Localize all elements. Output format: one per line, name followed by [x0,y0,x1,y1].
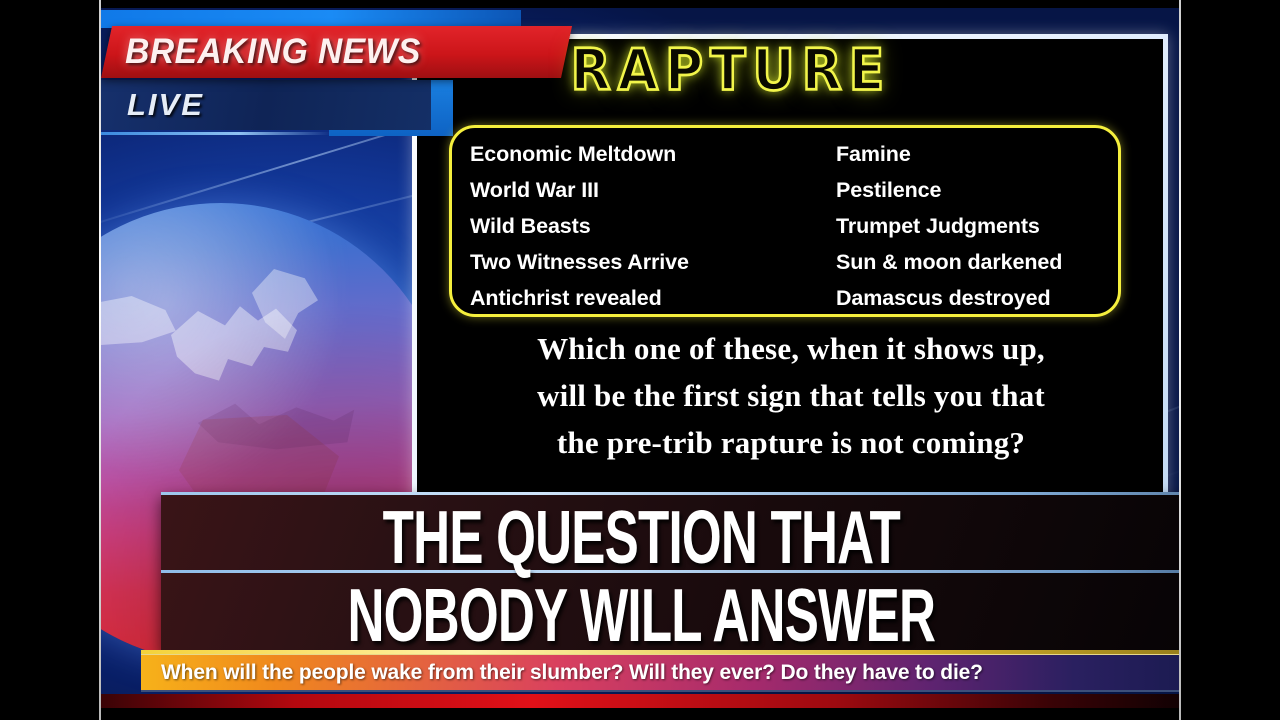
list-item: Damascus destroyed [814,280,1118,316]
question-line-1: Which one of these, when it shows up, [441,325,1141,372]
news-broadcast-graphic: BREAKING NEWS LIVE RAPTURE Economic Melt… [101,0,1179,720]
list-item: Two Witnesses Arrive [470,244,814,280]
topic-title-wrap: RAPTURE [451,40,1011,102]
bottom-black-strip [101,708,1179,720]
list-item: Economic Meltdown [470,136,814,172]
list-item: Sun & moon darkened [814,244,1118,280]
lower-third-bar [161,494,1179,654]
list-item: World War III [470,172,814,208]
ticker-bar: When will the people wake from their slu… [141,654,1179,692]
topic-title: RAPTURE [571,38,892,104]
signs-list-box: Economic Meltdown Famine World War III P… [449,125,1121,317]
bottom-red-strip [101,694,1179,708]
content-left-rule [99,0,101,720]
live-underline [101,132,331,135]
lower-third-rule-mid [161,570,1179,573]
list-item: Pestilence [814,172,1118,208]
list-item: Famine [814,136,1118,172]
list-item: Trumpet Judgments [814,208,1118,244]
signs-list-grid: Economic Meltdown Famine World War III P… [470,136,1118,316]
question-line-3: the pre-trib rapture is not coming? [441,419,1141,466]
question-text: Which one of these, when it shows up, wi… [441,325,1141,466]
screenshot-canvas: BREAKING NEWS LIVE RAPTURE Economic Melt… [0,0,1280,720]
content-right-rule [1179,0,1181,720]
lower-third-rule-top [161,492,1179,495]
ticker-text: When will the people wake from their slu… [161,661,983,685]
live-label: LIVE [127,87,204,123]
question-line-2: will be the first sign that tells you th… [441,372,1141,419]
live-label-wrap: LIVE [127,80,204,130]
list-item: Wild Beasts [470,208,814,244]
list-item: Antichrist revealed [470,280,814,316]
